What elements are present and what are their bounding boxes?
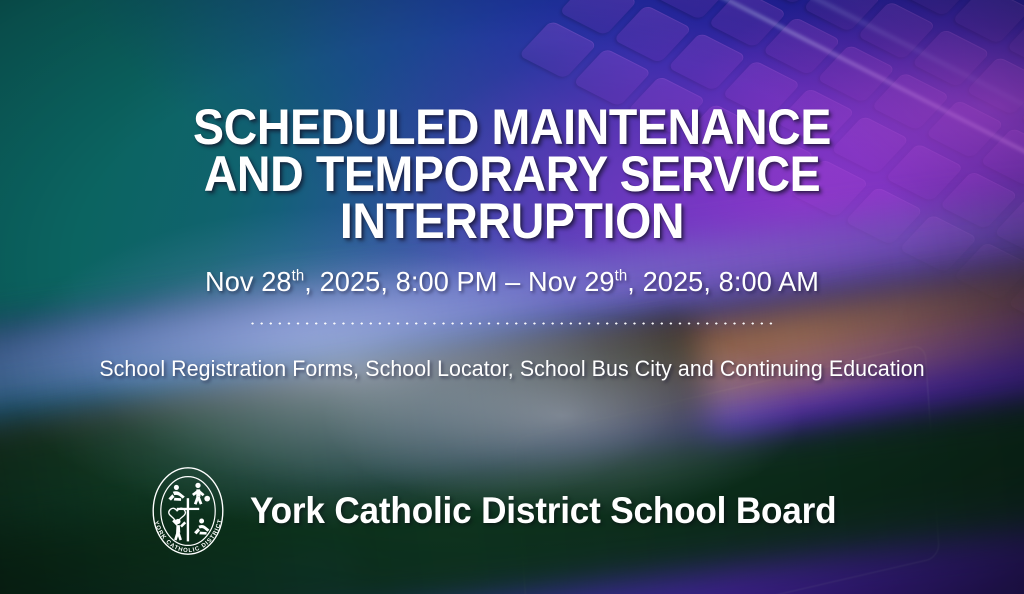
end-time-text: , 2025, 8:00 AM	[627, 266, 819, 297]
end-date-text: Nov 29	[528, 266, 615, 297]
affected-services-text: School Registration Forms, School Locato…	[15, 356, 1008, 382]
maintenance-notice-banner: SCHEDULED MAINTENANCE AND TEMPORARY SERV…	[0, 0, 1024, 594]
start-time-text: , 2025, 8:00 PM	[304, 266, 497, 297]
maintenance-window: Nov 28th, 2025, 8:00 PM – Nov 29th, 2025…	[15, 266, 1008, 298]
date-range-separator: –	[497, 266, 527, 297]
page-title: SCHEDULED MAINTENANCE AND TEMPORARY SERV…	[36, 104, 988, 245]
start-date-text: Nov 28	[205, 266, 292, 297]
headline-line-3: INTERRUPTION	[36, 198, 988, 245]
dotted-divider	[248, 322, 778, 325]
ycdsb-logo-icon: YORK CATHOLIC DISTRICT SCHOOL BOARD	[140, 463, 236, 559]
headline-line-1: SCHEDULED MAINTENANCE	[36, 104, 988, 151]
organization-name: York Catholic District School Board	[250, 490, 836, 532]
end-date-ordinal: th	[615, 268, 628, 285]
organization-branding: YORK CATHOLIC DISTRICT SCHOOL BOARD	[140, 463, 867, 559]
start-date-ordinal: th	[292, 268, 305, 285]
headline-line-2: AND TEMPORARY SERVICE	[36, 151, 988, 198]
banner-content: SCHEDULED MAINTENANCE AND TEMPORARY SERV…	[0, 0, 1024, 594]
